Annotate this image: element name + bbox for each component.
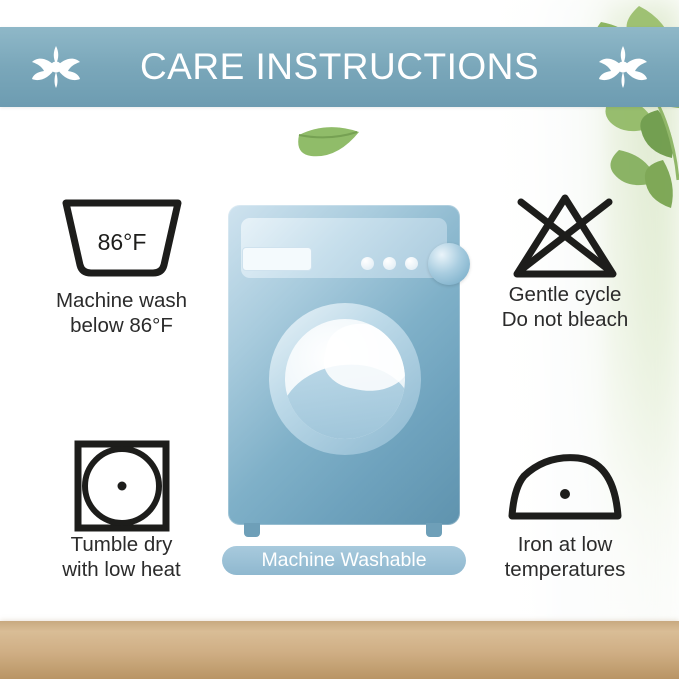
indicator-light-2: [383, 257, 396, 270]
machine-washable-badge: Machine Washable: [222, 546, 466, 575]
symbol-label-tumble-dry: Tumble dry with low heat: [14, 532, 229, 582]
bleach-icon-wrap: [460, 190, 670, 282]
symbol-gentle-cycle-no-bleach: Gentle cycle Do not bleach: [460, 190, 670, 332]
washing-machine-door-glass: [285, 319, 405, 439]
machine-washable-badge-text: Machine Washable: [261, 549, 426, 572]
symbol-machine-wash: 86°F Machine wash below 86°F: [14, 190, 229, 338]
iron-icon-wrap: [460, 440, 670, 532]
page-title: CARE INSTRUCTIONS: [140, 46, 539, 88]
care-instructions-card: CARE INSTRUCTIONS 86°F Machine wash belo…: [0, 0, 679, 679]
washing-machine-illustration: [228, 205, 460, 535]
washing-machine-foot-right: [426, 523, 442, 537]
iron-one-dot-icon: [502, 446, 628, 526]
fleur-de-lis-ornament-right: [597, 44, 649, 90]
wash-temp-text: 86°F: [97, 229, 146, 255]
wash-tub-icon: 86°F: [58, 193, 186, 279]
indicator-light-3: [405, 257, 418, 270]
fleur-de-lis-ornament-left: [30, 44, 82, 90]
tumble-dry-square-circle-icon: [72, 438, 172, 534]
indicator-light-1: [361, 257, 374, 270]
symbol-iron: Iron at low temperatures: [460, 440, 670, 582]
detergent-drawer: [242, 247, 312, 271]
washing-machine-foot-left: [244, 523, 260, 537]
symbol-label-machine-wash: Machine wash below 86°F: [14, 288, 229, 338]
program-selector-knob: [428, 243, 470, 285]
symbol-label-gentle-cycle: Gentle cycle Do not bleach: [460, 282, 670, 332]
tumble-dry-icon-wrap: [14, 440, 229, 532]
symbol-tumble-dry: Tumble dry with low heat: [14, 440, 229, 582]
triangle-crossed-bleach-icon: [509, 190, 621, 282]
header-band: CARE INSTRUCTIONS: [0, 27, 679, 107]
symbol-label-iron: Iron at low temperatures: [460, 532, 670, 582]
wash-tub-icon-wrap: 86°F: [14, 190, 229, 282]
